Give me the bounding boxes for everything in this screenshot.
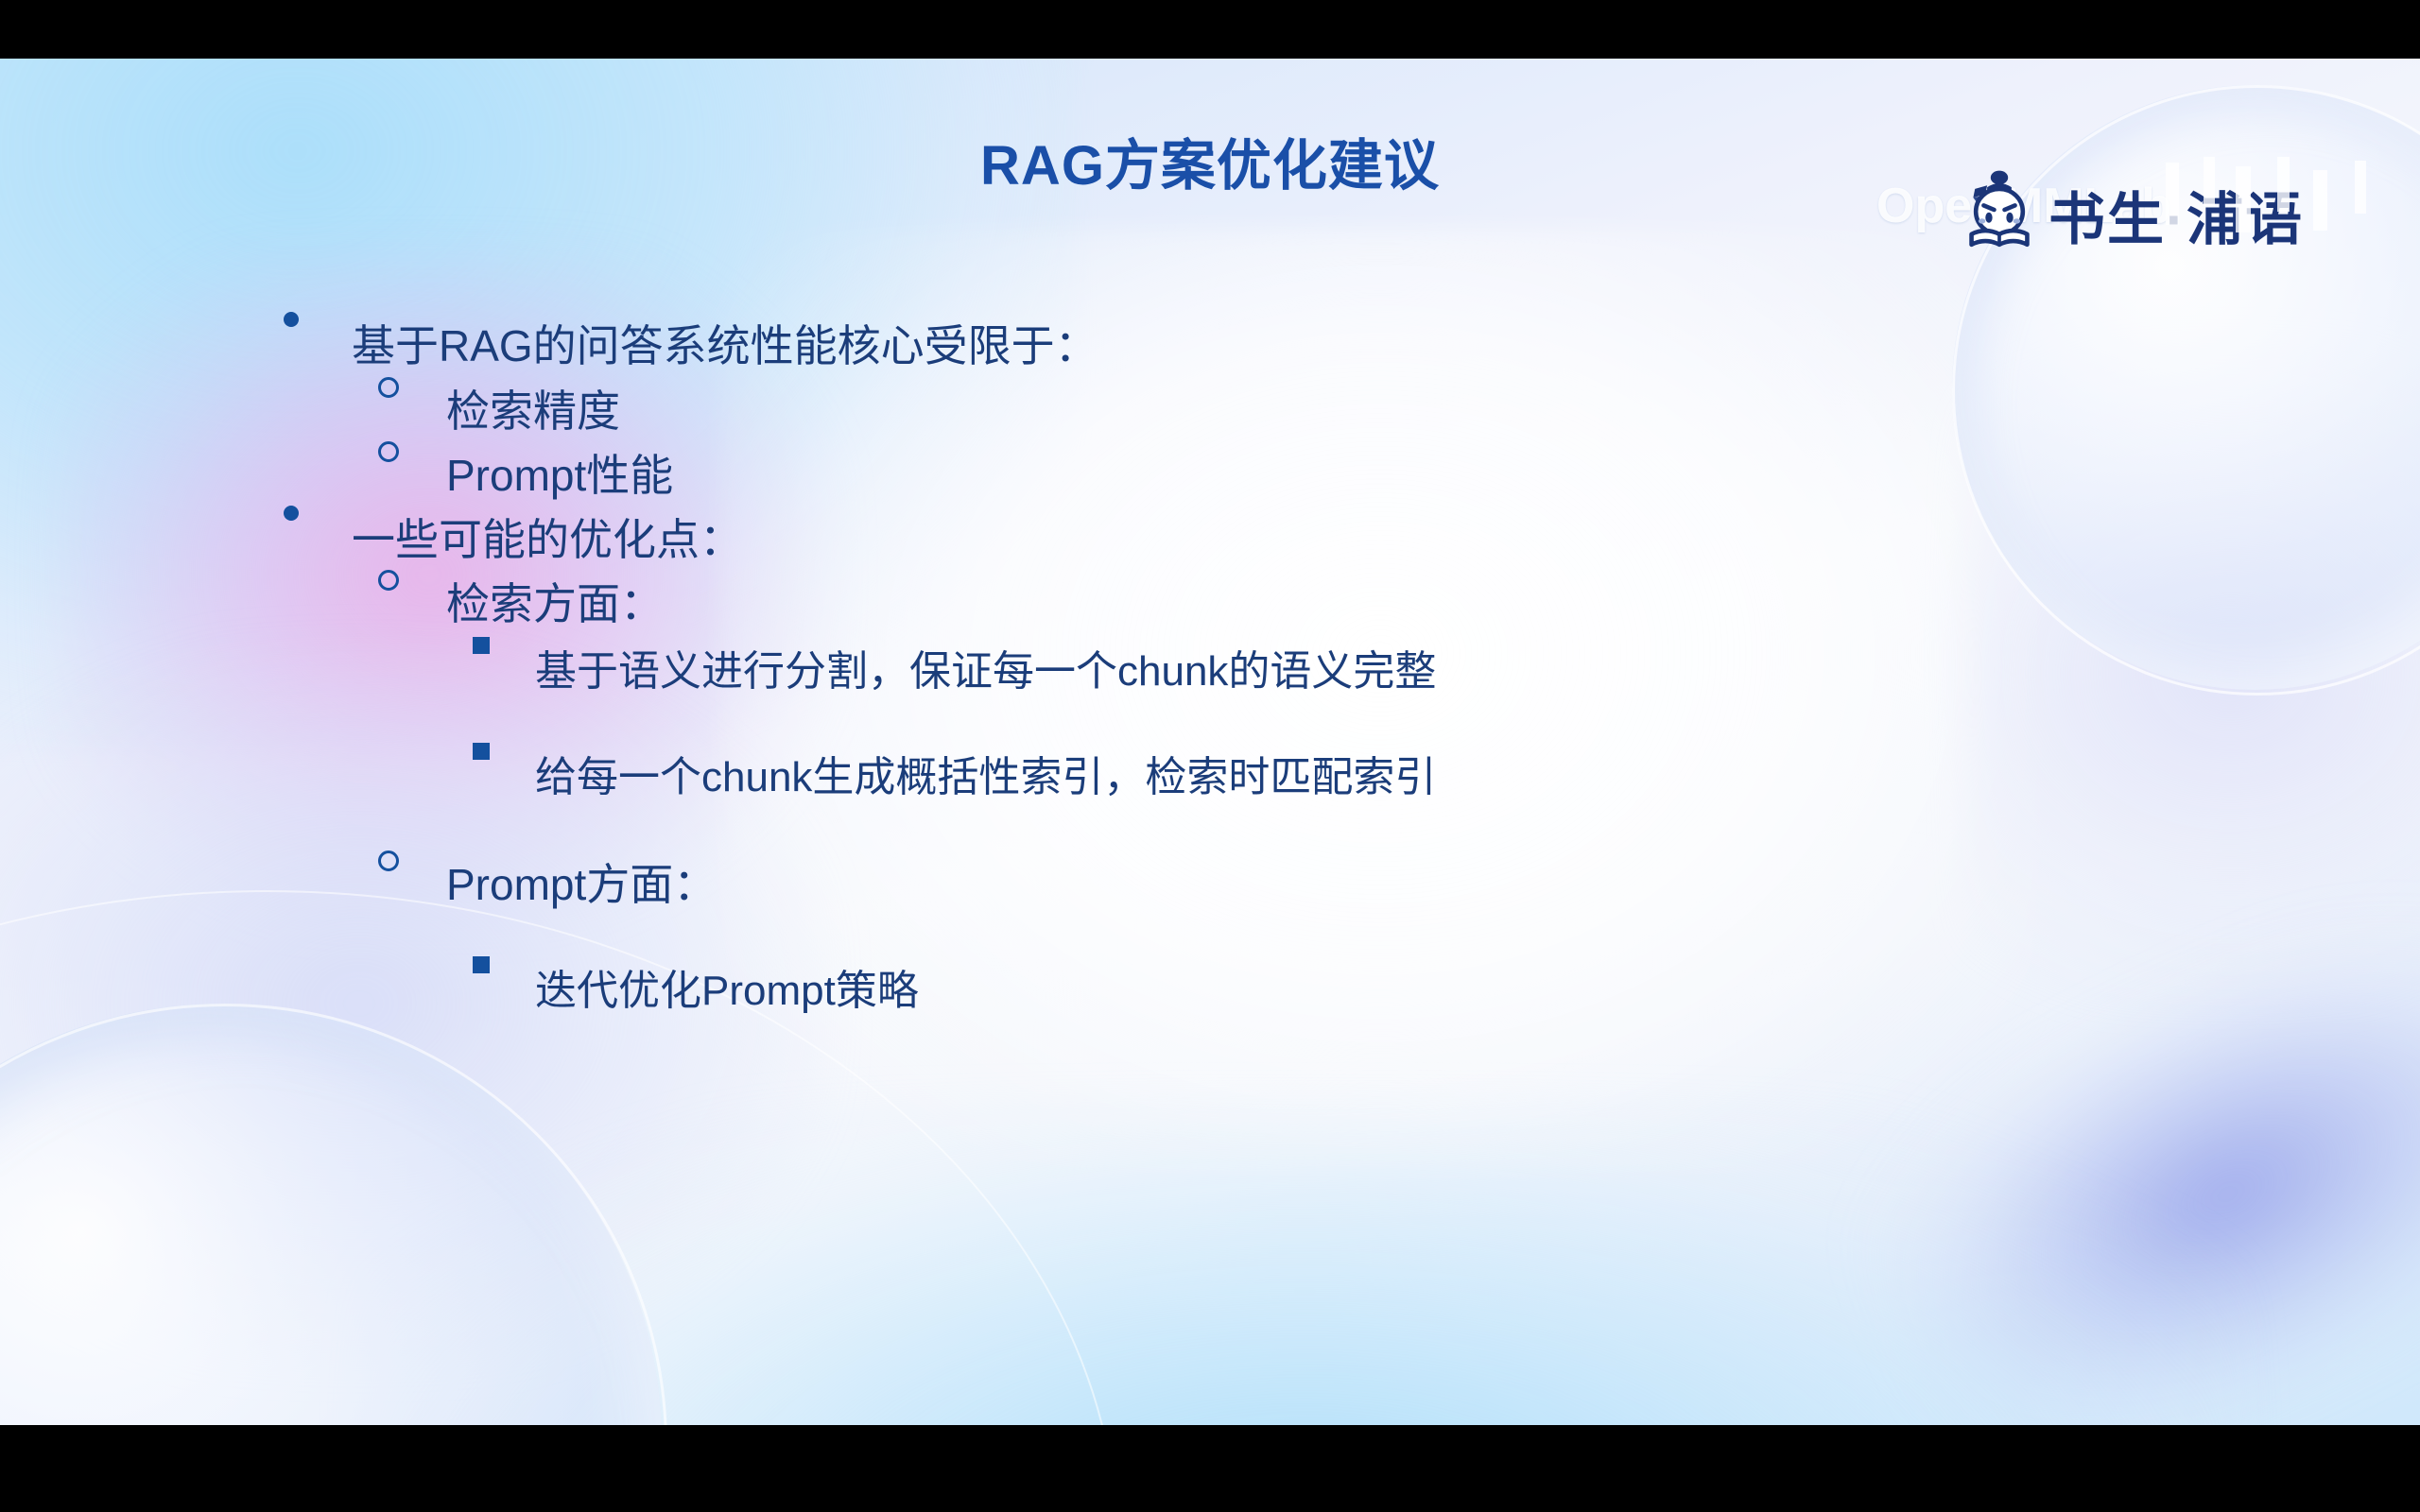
bullet-text: 一些可能的优化点： xyxy=(352,506,743,568)
bullet-item: Prompt性能 xyxy=(378,441,673,504)
video-frame: RAG方案优化建议 OpenMMLab xyxy=(0,0,2420,1512)
brand-name-cn: 书生·浦语 xyxy=(2048,174,2304,256)
bullet-marker-circle xyxy=(378,441,446,462)
bullet-marker-circle xyxy=(378,850,446,871)
bullet-marker-circle xyxy=(378,377,446,398)
letterbox-bottom xyxy=(0,1425,2420,1512)
presentation-slide: RAG方案优化建议 OpenMMLab xyxy=(0,59,2420,1425)
bullet-marker-circle xyxy=(378,570,446,591)
bullet-marker-square xyxy=(473,637,535,654)
bullet-marker-square xyxy=(473,956,535,973)
scholar-mascot-icon xyxy=(1956,166,2043,253)
background-glow-right-upper xyxy=(1966,342,2420,1004)
letterbox-top xyxy=(0,0,2420,59)
bullet-item: 基于语义进行分割，保证每一个chunk的语义完整 xyxy=(473,637,1436,697)
bullet-text: 基于RAG的问答系统性能核心受限于： xyxy=(352,312,1098,374)
bullet-item: Prompt方面： xyxy=(378,850,717,913)
bullet-item: 检索方面： xyxy=(378,570,664,632)
bullet-item: 迭代优化Prompt策略 xyxy=(473,956,919,1017)
bullet-item: 一些可能的优化点： xyxy=(284,506,743,568)
bullet-text: Prompt性能 xyxy=(446,441,673,504)
bullet-marker-square xyxy=(473,743,535,760)
brand-logo-cluster: OpenMMLab xyxy=(1876,161,2406,265)
bullet-marker-dot xyxy=(284,506,352,521)
bullet-text: Prompt方面： xyxy=(446,850,717,913)
bullet-text: 迭代优化Prompt策略 xyxy=(535,956,919,1017)
bullet-marker-dot xyxy=(284,312,352,327)
bullet-text: 基于语义进行分割，保证每一个chunk的语义完整 xyxy=(535,637,1436,697)
background-glow-cyan-bottom xyxy=(359,1104,2250,1425)
bullet-item: 基于RAG的问答系统性能核心受限于： xyxy=(284,312,1098,374)
bullet-item: 给每一个chunk生成概括性索引，检索时匹配索引 xyxy=(473,743,1436,803)
bullet-text: 检索精度 xyxy=(446,377,620,439)
bullet-text: 给每一个chunk生成概括性索引，检索时匹配索引 xyxy=(535,743,1436,803)
bullet-text: 检索方面： xyxy=(446,570,664,632)
bullet-item: 检索精度 xyxy=(378,377,620,439)
